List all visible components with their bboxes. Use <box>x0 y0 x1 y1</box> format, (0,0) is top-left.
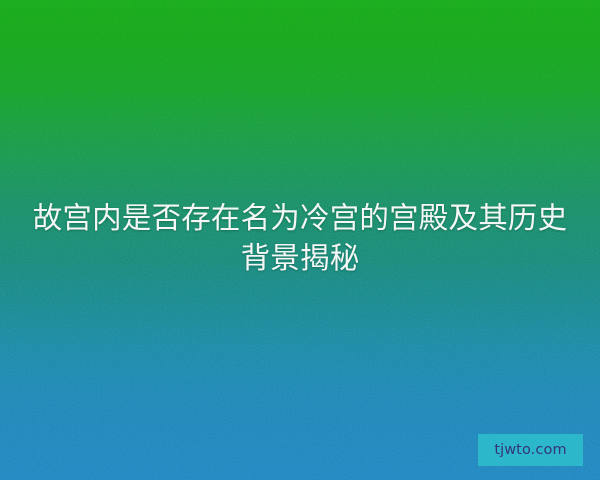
page-title: 故宫内是否存在名为冷宫的宫殿及其历史 背景揭秘 <box>0 198 600 278</box>
watermark-label: tjwto.com <box>494 443 566 458</box>
title-line-1: 故宫内是否存在名为冷宫的宫殿及其历史 <box>18 198 582 238</box>
banner-image: 故宫内是否存在名为冷宫的宫殿及其历史 背景揭秘 tjwto.com <box>0 0 600 480</box>
title-line-2: 背景揭秘 <box>18 238 582 278</box>
watermark-badge: tjwto.com <box>478 434 583 466</box>
